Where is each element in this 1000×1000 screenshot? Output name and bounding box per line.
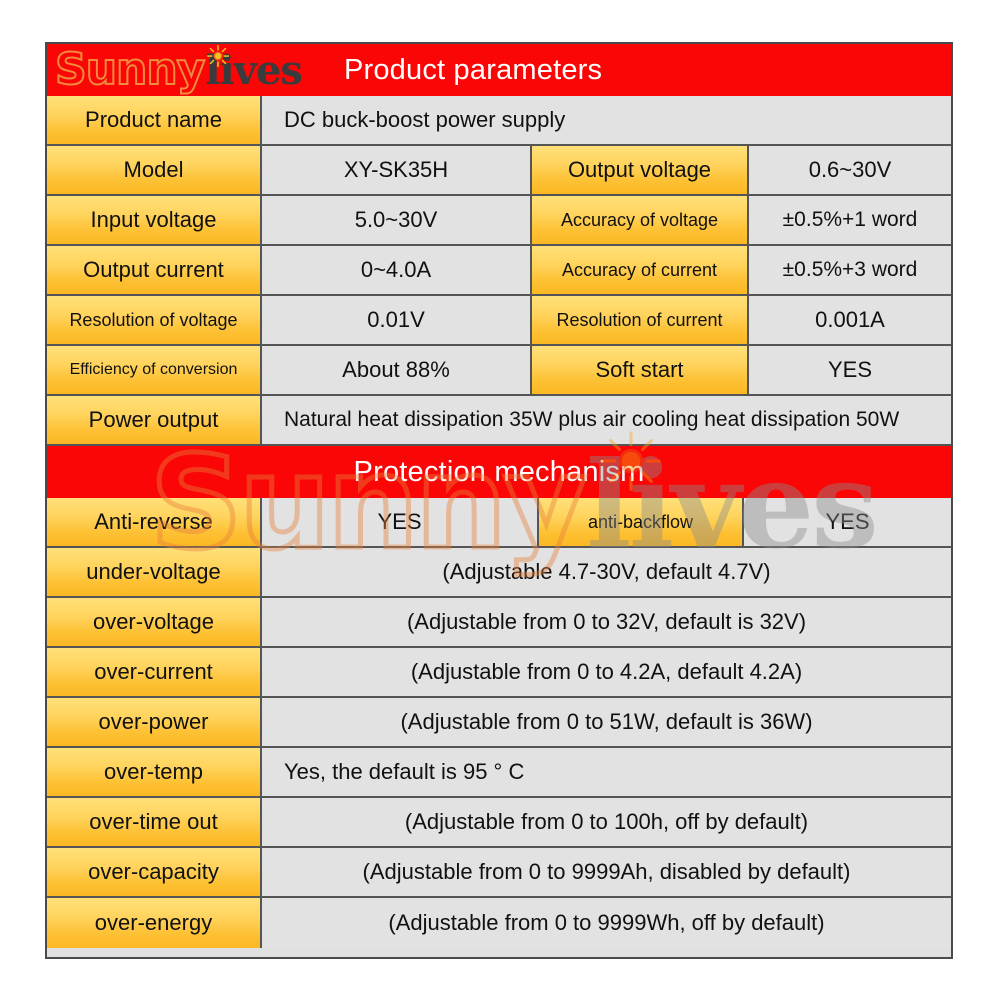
row-value: DC buck-boost power supply (262, 96, 951, 146)
row-value: (Adjustable 4.7-30V, default 4.7V) (262, 548, 951, 598)
table-row: Model XY-SK35H Output voltage 0.6~30V (47, 146, 951, 196)
row-label: Anti-reverse (47, 498, 262, 548)
row-label: Resolution of voltage (47, 296, 262, 346)
row-value: (Adjustable from 0 to 32V, default is 32… (262, 598, 951, 648)
section-header-protection-mechanism: Protection mechanism (47, 446, 951, 498)
row-value: About 88% (262, 346, 532, 396)
row-value-secondary: ±0.5%+1 word (749, 196, 951, 246)
table-row: over-time out (Adjustable from 0 to 100h… (47, 798, 951, 848)
row-value: Yes, the default is 95 ° C (262, 748, 951, 798)
row-label-secondary: Resolution of current (532, 296, 749, 346)
row-value-secondary: 0.001A (749, 296, 951, 346)
row-label: over-capacity (47, 848, 262, 898)
row-label: over-energy (47, 898, 262, 948)
row-value: (Adjustable from 0 to 51W, default is 36… (262, 698, 951, 748)
row-label: over-temp (47, 748, 262, 798)
table-row: Output current 0~4.0A Accuracy of curren… (47, 246, 951, 296)
row-value-secondary: YES (744, 498, 951, 548)
row-label-secondary: Accuracy of current (532, 246, 749, 296)
spec-sheet: Sunnylives Sunnylives (0, 0, 1000, 1000)
row-value: YES (262, 498, 539, 548)
row-value: XY-SK35H (262, 146, 532, 196)
row-value: Natural heat dissipation 35W plus air co… (262, 396, 951, 446)
row-value: (Adjustable from 0 to 4.2A, default 4.2A… (262, 648, 951, 698)
table-row: over-voltage (Adjustable from 0 to 32V, … (47, 598, 951, 648)
section-title-product-parameters: Product parameters (344, 54, 602, 87)
row-label-secondary: Accuracy of voltage (532, 196, 749, 246)
row-label: over-current (47, 648, 262, 698)
table-row: under-voltage (Adjustable 4.7-30V, defau… (47, 548, 951, 598)
table-row: over-capacity (Adjustable from 0 to 9999… (47, 848, 951, 898)
section-title-protection-mechanism: Protection mechanism (354, 456, 645, 489)
row-label: over-power (47, 698, 262, 748)
row-value-secondary: ±0.5%+3 word (749, 246, 951, 296)
row-label-secondary: Soft start (532, 346, 749, 396)
row-label: Product name (47, 96, 262, 146)
row-label: over-voltage (47, 598, 262, 648)
brand-logo: Sunnylives (55, 44, 302, 96)
row-value: 0.01V (262, 296, 532, 346)
spec-table: Sunnylives Product parameters (45, 42, 953, 959)
table-row: over-current (Adjustable from 0 to 4.2A,… (47, 648, 951, 698)
table-row: Input voltage 5.0~30V Accuracy of voltag… (47, 196, 951, 246)
table-row: Resolution of voltage 0.01V Resolution o… (47, 296, 951, 346)
table-row: over-energy (Adjustable from 0 to 9999Wh… (47, 898, 951, 948)
table-row: Anti-reverse YES anti-backflow YES (47, 498, 951, 548)
row-label: Output current (47, 246, 262, 296)
table-row: Power output Natural heat dissipation 35… (47, 396, 951, 446)
section-header-product-parameters: Sunnylives Product parameters (47, 44, 951, 96)
row-label: under-voltage (47, 548, 262, 598)
row-label: Model (47, 146, 262, 196)
row-label-secondary: anti-backflow (539, 498, 744, 548)
logo-sun-icon (207, 45, 229, 67)
table-row: over-power (Adjustable from 0 to 51W, de… (47, 698, 951, 748)
table-row: Product name DC buck-boost power supply (47, 96, 951, 146)
row-value: (Adjustable from 0 to 100h, off by defau… (262, 798, 951, 848)
table-row: over-temp Yes, the default is 95 ° C (47, 748, 951, 798)
row-value: (Adjustable from 0 to 9999Wh, off by def… (262, 898, 951, 948)
row-label: Input voltage (47, 196, 262, 246)
row-label: Efficiency of conversion (47, 346, 262, 396)
row-value: 0~4.0A (262, 246, 532, 296)
row-value-secondary: 0.6~30V (749, 146, 951, 196)
row-value: (Adjustable from 0 to 9999Ah, disabled b… (262, 848, 951, 898)
row-value-secondary: YES (749, 346, 951, 396)
table-row: Efficiency of conversion About 88% Soft … (47, 346, 951, 396)
row-label-secondary: Output voltage (532, 146, 749, 196)
row-label: over-time out (47, 798, 262, 848)
row-value: 5.0~30V (262, 196, 532, 246)
logo-text-sunny: Sunny (55, 44, 204, 95)
row-label: Power output (47, 396, 262, 446)
